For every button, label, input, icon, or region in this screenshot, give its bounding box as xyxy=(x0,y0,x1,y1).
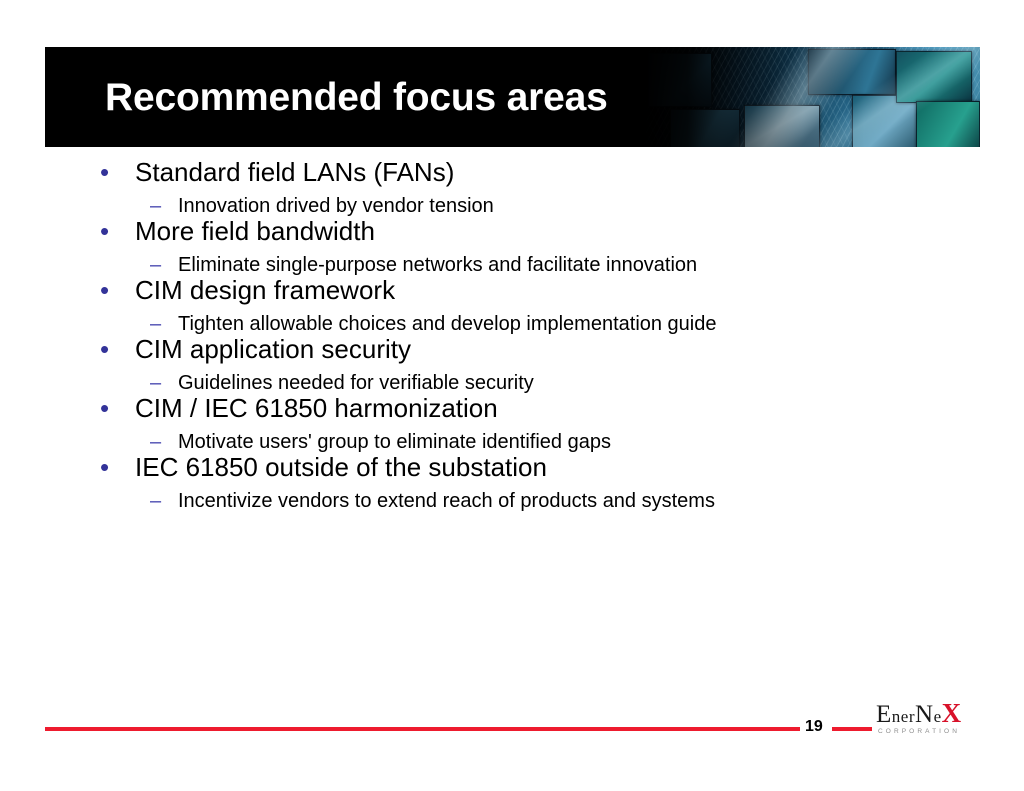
bullet-level2: – Innovation drived by vendor tension xyxy=(0,195,1024,217)
bullet-dot-icon: • xyxy=(100,394,109,422)
enernex-logo: EnerNeX CORPORATION xyxy=(876,700,980,742)
bullet-dot-icon: • xyxy=(100,158,109,186)
bullet-level1-text: Standard field LANs (FANs) xyxy=(135,157,454,187)
logo-letter-n: N xyxy=(915,701,934,728)
dash-icon: – xyxy=(150,313,161,335)
slide-body: • Standard field LANs (FANs) – Innovatio… xyxy=(0,158,1024,512)
footer-rule-left xyxy=(45,727,800,731)
bullet-level2-text: Tighten allowable choices and develop im… xyxy=(178,313,717,335)
bullet-level1-text: CIM / IEC 61850 harmonization xyxy=(135,393,498,423)
bullet-item: • More field bandwidth – Eliminate singl… xyxy=(0,217,1024,276)
logo-letter-x: X xyxy=(942,698,962,728)
dash-icon: – xyxy=(150,195,161,217)
bullet-level1-text: More field bandwidth xyxy=(135,216,375,246)
page-title: Recommended focus areas xyxy=(105,76,608,120)
bullet-item: • IEC 61850 outside of the substation – … xyxy=(0,453,1024,512)
bullet-dot-icon: • xyxy=(100,453,109,481)
bullet-level1: • More field bandwidth xyxy=(0,217,1024,245)
dash-icon: – xyxy=(150,372,161,394)
header-decorative-image xyxy=(640,47,980,147)
bullet-item: • CIM application security – Guidelines … xyxy=(0,335,1024,394)
bullet-level2-text: Guidelines needed for verifiable securit… xyxy=(178,372,534,394)
bullet-level1: • IEC 61850 outside of the substation xyxy=(0,453,1024,481)
bullet-level2-text: Motivate users' group to eliminate ident… xyxy=(178,431,611,453)
footer-rule-right xyxy=(832,727,872,731)
dash-icon: – xyxy=(150,431,161,453)
bullet-level2-text: Incentivize vendors to extend reach of p… xyxy=(178,490,715,512)
bullet-level1: • CIM design framework xyxy=(0,276,1024,304)
bullet-level2: – Guidelines needed for verifiable secur… xyxy=(0,372,1024,394)
bullet-level1: • Standard field LANs (FANs) xyxy=(0,158,1024,186)
logo-wordmark: EnerNeX xyxy=(876,700,962,727)
bullet-level2: – Eliminate single-purpose networks and … xyxy=(0,254,1024,276)
bullet-level2-text: Innovation drived by vendor tension xyxy=(178,195,494,217)
bullet-level2: – Motivate users' group to eliminate ide… xyxy=(0,431,1024,453)
bullet-dot-icon: • xyxy=(100,276,109,304)
bullet-level2-text: Eliminate single-purpose networks and fa… xyxy=(178,254,697,276)
bullet-item: • CIM / IEC 61850 harmonization – Motiva… xyxy=(0,394,1024,453)
bullet-dot-icon: • xyxy=(100,217,109,245)
bullet-dot-icon: • xyxy=(100,335,109,363)
bullet-item: • Standard field LANs (FANs) – Innovatio… xyxy=(0,158,1024,217)
logo-letter-e2: e xyxy=(934,707,942,726)
dash-icon: – xyxy=(150,254,161,276)
bullet-level1-text: CIM design framework xyxy=(135,275,395,305)
bullet-level1-text: CIM application security xyxy=(135,334,411,364)
logo-letters-ner: ner xyxy=(892,707,915,726)
logo-subtitle: CORPORATION xyxy=(878,728,960,735)
bullet-level1: • CIM application security xyxy=(0,335,1024,363)
dash-icon: – xyxy=(150,490,161,512)
bullet-level2: – Incentivize vendors to extend reach of… xyxy=(0,490,1024,512)
bullet-item: • CIM design framework – Tighten allowab… xyxy=(0,276,1024,335)
bullet-level2: – Tighten allowable choices and develop … xyxy=(0,313,1024,335)
logo-letter-e1: E xyxy=(876,701,892,728)
page-number: 19 xyxy=(805,718,823,736)
bullet-level1-text: IEC 61850 outside of the substation xyxy=(135,452,547,482)
bullet-level1: • CIM / IEC 61850 harmonization xyxy=(0,394,1024,422)
